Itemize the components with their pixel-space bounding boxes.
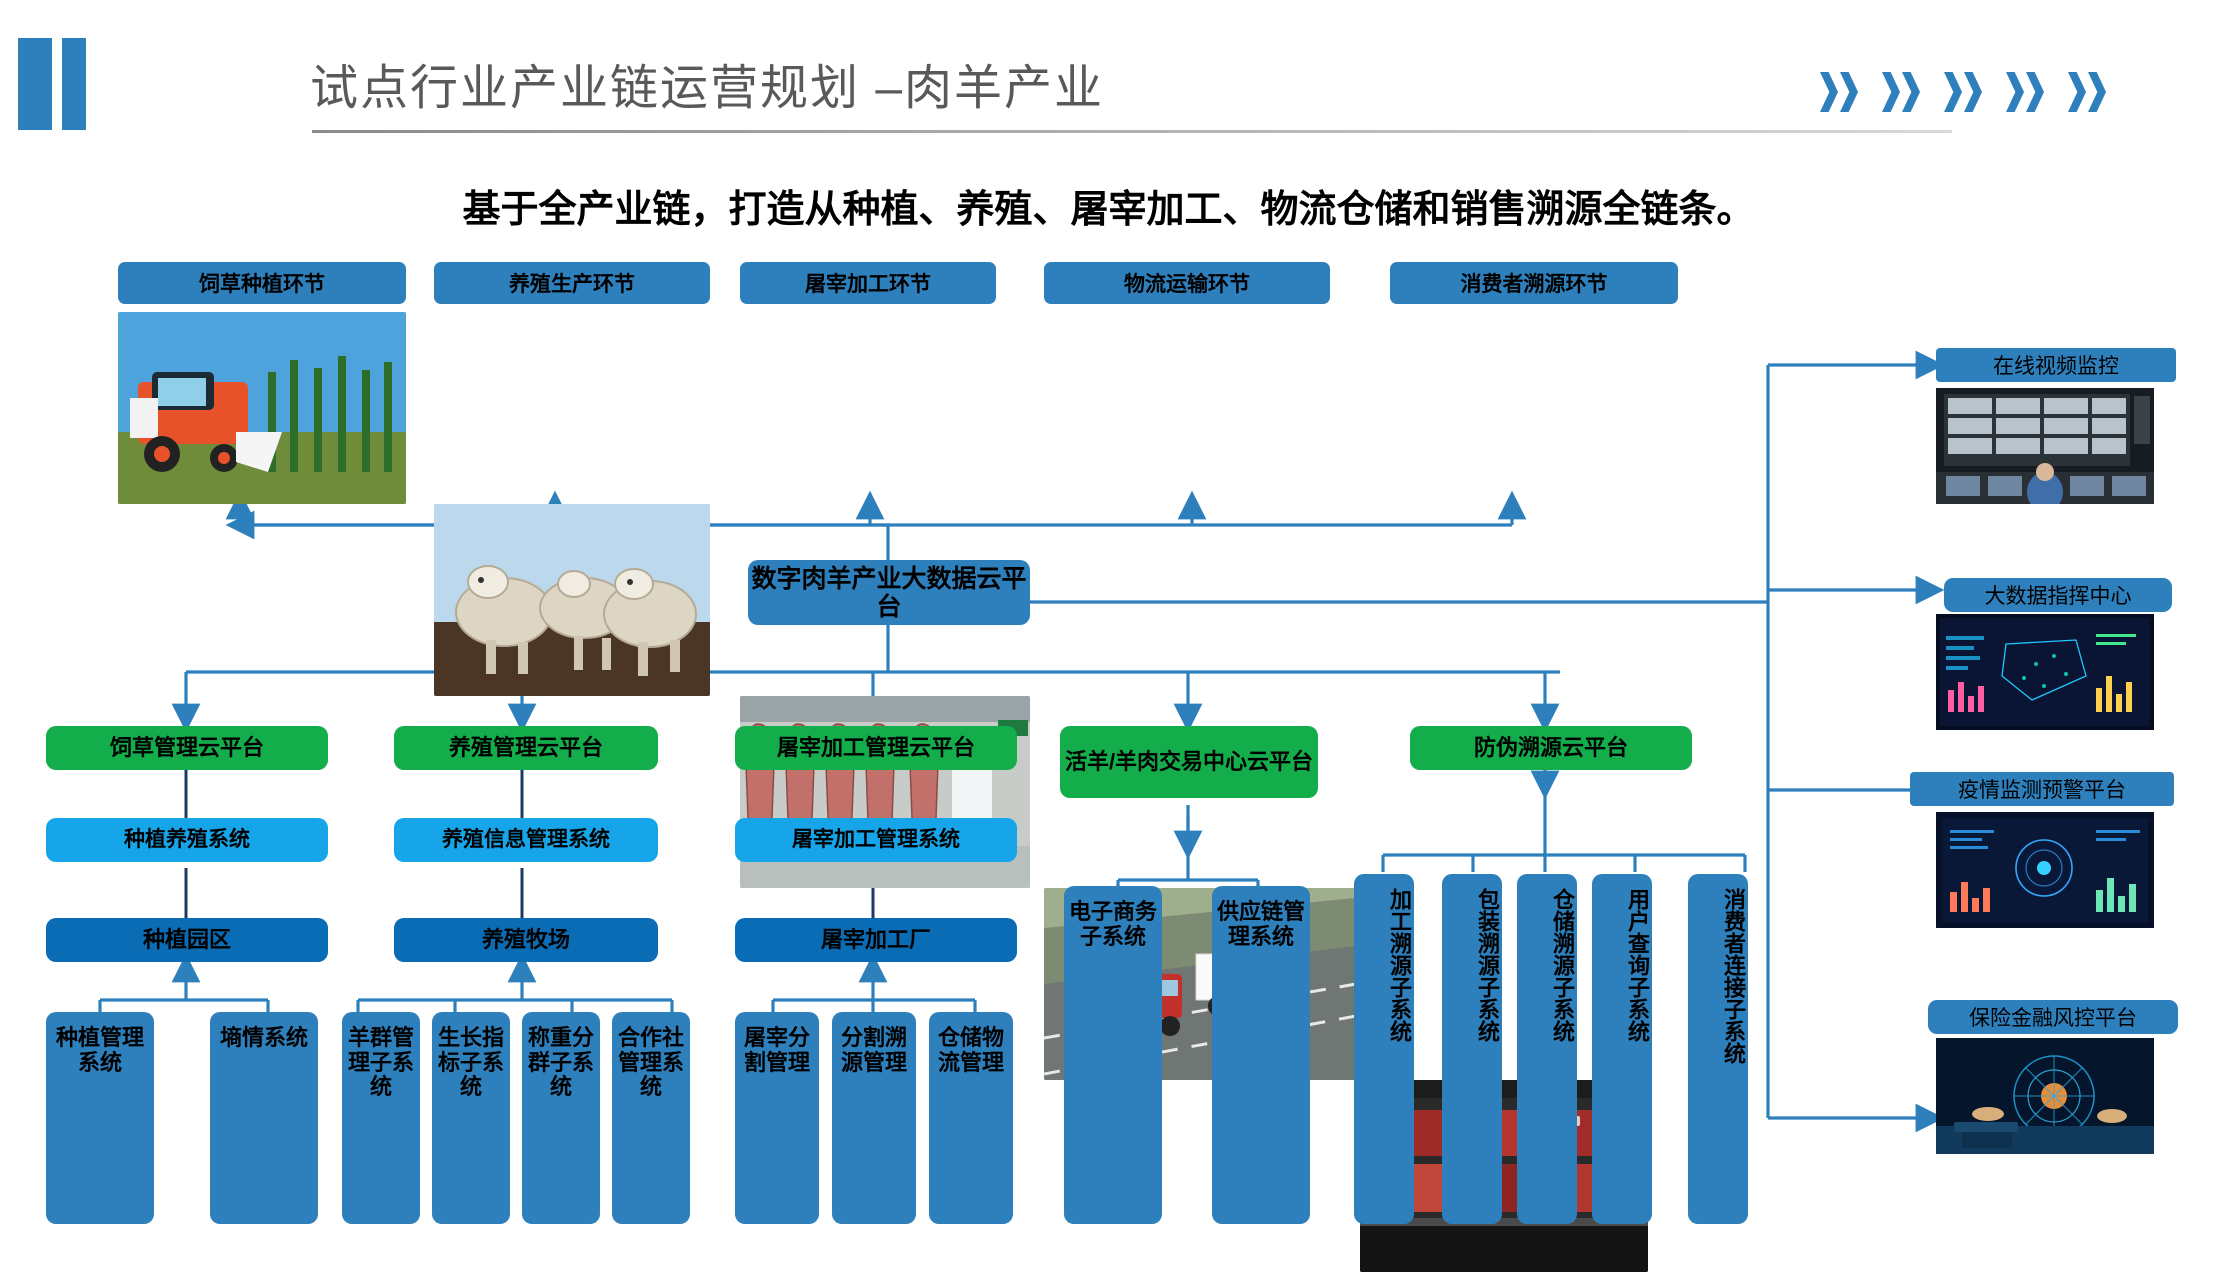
rail-photo-command-center (1936, 614, 2154, 730)
header-accent-bar-left (18, 38, 52, 130)
rail-label-epidemic-platform[interactable]: 疫情监测预警平台 (1910, 772, 2174, 806)
stage-banner-0[interactable]: 饲草种植环节 (118, 262, 406, 304)
stage-photo-corn-harvester (118, 312, 406, 504)
hub-node[interactable]: 数字肉羊产业大数据云平台 (748, 560, 1030, 625)
platform-node-breeding[interactable]: 养殖管理云平台 (394, 726, 658, 770)
platform-node-trade[interactable]: 活羊/羊肉交易中心云平台 (1060, 726, 1318, 798)
system-node-breeding-info[interactable]: 养殖信息管理系统 (394, 818, 658, 862)
header-accent-bar-right (62, 38, 86, 130)
leaf-node-coop-mgmt[interactable]: 合作社管理系统 (612, 1012, 690, 1224)
leaf-node-warehouse-logistics[interactable]: 仓储物流管理 (929, 1012, 1013, 1224)
chevron-right-icon (1944, 66, 1990, 118)
site-node-farm[interactable]: 养殖牧场 (394, 918, 658, 962)
platform-node-feed[interactable]: 饲草管理云平台 (46, 726, 328, 770)
rail-photo-fintech-risk (1936, 1038, 2154, 1154)
leaf-node-packaging-trace[interactable]: 包装溯源子系统 (1442, 874, 1502, 1224)
leaf-node-user-query[interactable]: 用户查询子系统 (1592, 874, 1652, 1224)
stage-banner-4[interactable]: 消费者溯源环节 (1390, 262, 1678, 304)
leaf-node-supply-chain[interactable]: 供应链管理系统 (1212, 886, 1310, 1224)
site-node-slaughter-plant[interactable]: 屠宰加工厂 (735, 918, 1017, 962)
page-subtitle: 基于全产业链，打造从种植、养殖、屠宰加工、物流仓储和销售溯源全链条。 (0, 178, 2217, 233)
leaf-node-growth-index[interactable]: 生长指标子系统 (432, 1012, 510, 1224)
chevron-right-icon (2068, 66, 2114, 118)
system-node-planting-breeding[interactable]: 种植养殖系统 (46, 818, 328, 862)
chevron-right-icon (1820, 66, 1866, 118)
system-node-slaughter-mgmt[interactable]: 屠宰加工管理系统 (735, 818, 1017, 862)
chevron-right-icon (2006, 66, 2052, 118)
rail-label-insurance-risk[interactable]: 保险金融风控平台 (1928, 1000, 2178, 1034)
chevron-right-icon (1882, 66, 1928, 118)
title-underline (312, 130, 1952, 133)
page-title: 试点行业产业链运营规划 –肉羊产业 (310, 48, 1510, 118)
rail-label-video-monitoring[interactable]: 在线视频监控 (1936, 348, 2176, 382)
rail-label-big-data-center[interactable]: 大数据指挥中心 (1944, 578, 2172, 612)
leaf-node-cutting-trace[interactable]: 分割溯源管理 (832, 1012, 916, 1224)
stage-banner-2[interactable]: 屠宰加工环节 (740, 262, 996, 304)
leaf-node-flock-mgmt[interactable]: 羊群管理子系统 (342, 1012, 420, 1224)
leaf-node-warehouse-trace[interactable]: 仓储溯源子系统 (1517, 874, 1577, 1224)
rail-photo-epidemic-dashboard (1936, 812, 2154, 928)
stage-banner-3[interactable]: 物流运输环节 (1044, 262, 1330, 304)
platform-node-slaughter[interactable]: 屠宰加工管理云平台 (735, 726, 1017, 770)
stage-banner-1[interactable]: 养殖生产环节 (434, 262, 710, 304)
leaf-node-weighing-grouping[interactable]: 称重分群子系统 (522, 1012, 600, 1224)
leaf-node-processing-trace[interactable]: 加工溯源子系统 (1354, 874, 1414, 1224)
platform-node-trace[interactable]: 防伪溯源云平台 (1410, 726, 1692, 770)
leaf-node-ecommerce[interactable]: 电子商务子系统 (1064, 886, 1162, 1224)
leaf-node-slaughter-cutting[interactable]: 屠宰分割管理 (735, 1012, 819, 1224)
rail-photo-video-wall (1936, 388, 2154, 504)
leaf-node-planting-mgmt[interactable]: 种植管理系统 (46, 1012, 154, 1224)
site-node-planting-park[interactable]: 种植园区 (46, 918, 328, 962)
leaf-node-soil-moisture[interactable]: 墒情系统 (210, 1012, 318, 1224)
stage-photo-sheep-flock (434, 504, 710, 696)
leaf-node-consumer-connect[interactable]: 消费者连接子系统 (1688, 874, 1748, 1224)
chevron-decoration (1820, 62, 2180, 122)
